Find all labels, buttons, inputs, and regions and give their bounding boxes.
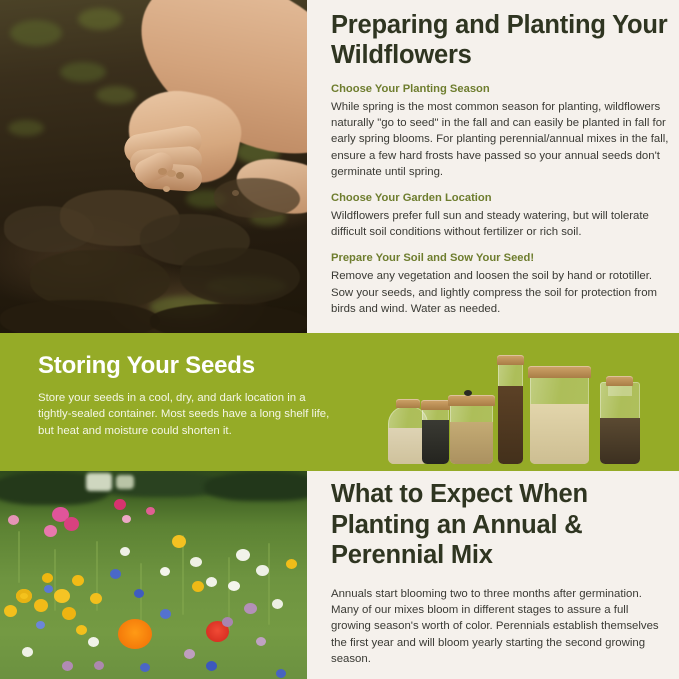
flower [222, 617, 233, 627]
flower [16, 589, 32, 603]
seed-jar [422, 406, 449, 464]
seed-jars-photo [388, 352, 656, 464]
flower [22, 647, 33, 657]
flower [184, 649, 195, 659]
seed-jar [530, 372, 589, 464]
block-prepare-soil: Prepare Your Soil and Sow Your Seed! Rem… [331, 251, 671, 317]
cork-lid [606, 376, 633, 386]
seed-jar [498, 362, 523, 464]
cork-lid [448, 395, 495, 406]
flower [110, 569, 121, 579]
flower [146, 507, 155, 515]
flower [206, 577, 217, 587]
flower [34, 599, 48, 612]
flower [190, 557, 202, 567]
body-text: Annuals start blooming two to three mont… [331, 586, 671, 668]
flower [276, 669, 286, 678]
subheading: Prepare Your Soil and Sow Your Seed! [331, 251, 671, 266]
section-title: What to Expect When Planting an Annual &… [331, 479, 671, 571]
cork-lid [497, 355, 524, 365]
flower [76, 625, 87, 635]
section-title: Storing Your Seeds [38, 352, 338, 380]
subheading: Choose Your Garden Location [331, 191, 671, 206]
planting-section: Preparing and Planting Your Wildflowers … [331, 10, 671, 317]
flower [90, 593, 102, 604]
flower [72, 575, 84, 586]
flower [256, 637, 266, 646]
flower [62, 607, 76, 620]
flower [228, 581, 240, 591]
flower [286, 559, 297, 569]
flower [244, 603, 257, 614]
flower [236, 549, 250, 561]
flower [54, 589, 70, 603]
cork-lid [421, 400, 450, 410]
flower [42, 573, 53, 583]
cork-lid [396, 399, 420, 408]
block-garden-location: Choose Your Garden Location Wildflowers … [331, 191, 671, 240]
body-text: While spring is the most common season f… [331, 99, 671, 180]
flower [122, 515, 131, 523]
flower [62, 661, 73, 671]
flower [206, 661, 217, 671]
wildflower-meadow-photo [0, 471, 307, 679]
flower [114, 499, 126, 510]
body-text: Wildflowers prefer full sun and steady w… [331, 208, 671, 240]
seed-jar [450, 402, 493, 464]
body-text: Remove any vegetation and loosen the soi… [331, 268, 671, 317]
flower [8, 515, 19, 525]
flower [160, 567, 170, 576]
hands-sowing-seeds-photo [0, 0, 307, 333]
flower [44, 525, 57, 537]
flower [120, 547, 130, 556]
body-text: Store your seeds in a cool, dry, and dar… [38, 390, 338, 439]
flower [160, 609, 171, 619]
flower [256, 565, 269, 576]
flower [118, 619, 152, 649]
flower [192, 581, 204, 592]
flower [88, 637, 99, 647]
flower [4, 605, 17, 617]
flower [44, 585, 53, 593]
flower [64, 517, 79, 531]
page-title: Preparing and Planting Your Wildflowers [331, 10, 671, 70]
infographic-page: Preparing and Planting Your Wildflowers … [0, 0, 679, 679]
seed-jar [600, 382, 640, 464]
block-planting-season: Choose Your Planting Season While spring… [331, 82, 671, 180]
subheading: Choose Your Planting Season [331, 82, 671, 97]
cork-lid [528, 366, 591, 378]
what-to-expect-section: What to Expect When Planting an Annual &… [331, 479, 671, 668]
flower [140, 663, 150, 672]
storing-seeds-text: Storing Your Seeds Store your seeds in a… [38, 352, 338, 439]
flower [172, 535, 186, 548]
flower [36, 621, 45, 629]
flower [272, 599, 283, 609]
flower [134, 589, 144, 598]
flower [94, 661, 104, 670]
